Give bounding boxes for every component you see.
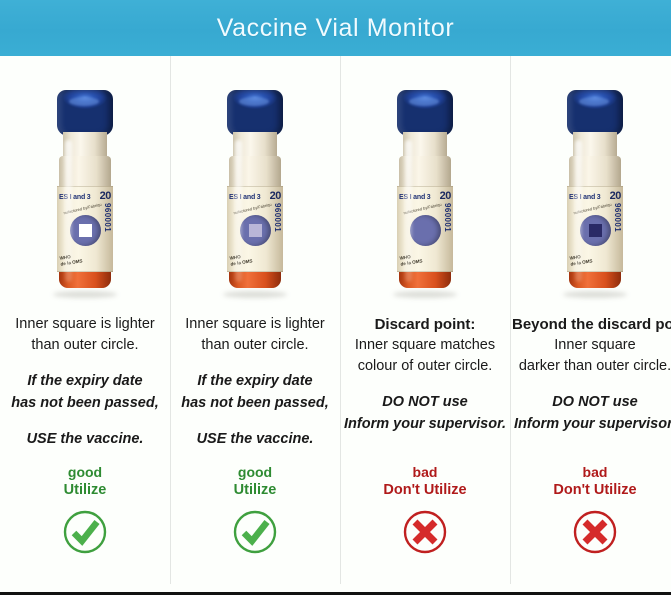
vial-who-text: WHO de la OMS xyxy=(399,252,423,267)
desc-line-4: Inform your supervisor. xyxy=(342,413,508,435)
stage-column-2: ES I and 3 20 nufactured by/Fabriqu 9600… xyxy=(170,60,340,592)
vial-serial-number: 960001 xyxy=(103,203,112,232)
desc-line-5: USE the vaccine. xyxy=(2,428,168,450)
stage-description-4: Beyond the discard point: Inner square d… xyxy=(510,300,671,435)
vial-shadow xyxy=(223,291,287,298)
verdict-word-4: bad xyxy=(583,463,608,481)
desc-line-1: Inner square is lighter xyxy=(172,314,338,335)
desc-line-5: USE the vaccine. xyxy=(172,428,338,450)
desc-line-4: has not been passed, xyxy=(172,392,338,414)
desc-line-2: than outer circle. xyxy=(172,335,338,356)
verdict-block-2: good Utilize xyxy=(231,463,279,592)
vial-manufacturer-text: nufactured by/Fabriqu xyxy=(63,202,102,216)
verdict-action-2: Utilize xyxy=(234,481,277,500)
vial-label-top-row: ES I and 3 20 xyxy=(569,190,621,202)
desc-heading-4: Beyond the discard point: xyxy=(512,314,671,335)
page-title: Vaccine Vial Monitor xyxy=(217,14,455,43)
check-circle-icon xyxy=(231,508,279,556)
vial-dose-count: 20 xyxy=(440,190,451,202)
vial-who-text: WHO de la OMS xyxy=(59,252,83,267)
vvm-indicator-4 xyxy=(580,215,611,246)
stage-description-1: Inner square is lighter than outer circl… xyxy=(0,300,170,450)
vaccine-vial-illustration-4: ES I and 3 20 nufactured by/Fabriqu 9600… xyxy=(542,90,648,300)
desc-line-4: has not been passed, xyxy=(2,392,168,414)
check-circle-icon xyxy=(61,508,109,556)
desc-line-1: Inner square is lighter xyxy=(2,314,168,335)
header-bar: Vaccine Vial Monitor xyxy=(0,0,671,56)
verdict-action-1: Utilize xyxy=(64,481,107,500)
vvm-inner-square-4 xyxy=(589,224,602,237)
verdict-block-4: bad Don't Utilize xyxy=(553,463,636,592)
vial-label-top-row: ES I and 3 20 xyxy=(229,190,281,202)
vial-label-4: ES I and 3 20 nufactured by/Fabriqu 9600… xyxy=(567,186,623,272)
vial-serial-number: 960001 xyxy=(273,203,282,232)
desc-line-2: darker than outer circle. xyxy=(512,356,671,377)
vaccine-vial-illustration-3: ES I and 3 20 nufactured by/Fabriqu 9600… xyxy=(372,90,478,300)
vial-label-top-row: ES I and 3 20 xyxy=(399,190,451,202)
vial-shadow xyxy=(563,291,627,298)
vvm-indicator-3 xyxy=(410,215,441,246)
desc-line-2: than outer circle. xyxy=(2,335,168,356)
stage-columns: ES I and 3 20 nufactured by/Fabriqu 9600… xyxy=(0,56,671,592)
stage-column-3: ES I and 3 20 nufactured by/Fabriqu 9600… xyxy=(340,60,510,592)
vial-product-code: ES I and 3 xyxy=(229,194,260,201)
vial-who-text: WHO de la OMS xyxy=(569,252,593,267)
stage-column-4: ES I and 3 20 nufactured by/Fabriqu 9600… xyxy=(510,60,671,592)
stage-column-1: ES I and 3 20 nufactured by/Fabriqu 9600… xyxy=(0,60,170,592)
vial-manufacturer-text: nufactured by/Fabriqu xyxy=(233,202,272,216)
desc-line-4: Inform your supervisor. xyxy=(512,413,671,435)
cross-circle-icon xyxy=(571,508,619,556)
desc-line-3: DO NOT use xyxy=(512,391,671,413)
verdict-block-3: bad Don't Utilize xyxy=(383,463,466,592)
vvm-inner-square-3 xyxy=(419,224,432,237)
vial-shadow xyxy=(393,291,457,298)
vial-serial-number: 960001 xyxy=(613,203,622,232)
stage-description-2: Inner square is lighter than outer circl… xyxy=(170,300,340,450)
vial-cap-icon xyxy=(397,90,453,136)
verdict-word-2: good xyxy=(238,463,272,481)
stage-description-3: Discard point: Inner square matches colo… xyxy=(340,300,510,435)
vial-shadow xyxy=(53,291,117,298)
vial-label-1: ES I and 3 20 nufactured by/Fabriqu 9600… xyxy=(57,186,113,272)
vial-serial-number: 960001 xyxy=(443,203,452,232)
verdict-word-1: good xyxy=(68,463,102,481)
desc-heading-3: Discard point: xyxy=(342,314,508,335)
desc-line-1: Inner square matches xyxy=(342,335,508,356)
vial-label-2: ES I and 3 20 nufactured by/Fabriqu 9600… xyxy=(227,186,283,272)
cross-circle-icon xyxy=(401,508,449,556)
vial-label-top-row: ES I and 3 20 xyxy=(59,190,111,202)
verdict-action-4: Don't Utilize xyxy=(553,481,636,500)
vvm-indicator-1 xyxy=(70,215,101,246)
vaccine-vial-monitor-poster: Vaccine Vial Monitor ES I and 3 20 xyxy=(0,0,671,595)
verdict-action-3: Don't Utilize xyxy=(383,481,466,500)
vial-product-code: ES I and 3 xyxy=(399,194,430,201)
verdict-word-3: bad xyxy=(413,463,438,481)
vial-dose-count: 20 xyxy=(270,190,281,202)
vial-product-code: ES I and 3 xyxy=(59,194,90,201)
vial-dose-count: 20 xyxy=(610,190,621,202)
vvm-inner-square-2 xyxy=(249,224,262,237)
vial-manufacturer-text: nufactured by/Fabriqu xyxy=(573,202,612,216)
desc-line-3: If the expiry date xyxy=(2,370,168,392)
desc-line-1: Inner square xyxy=(512,335,671,356)
desc-line-3: DO NOT use xyxy=(342,391,508,413)
vial-cap-icon xyxy=(227,90,283,136)
vial-product-code: ES I and 3 xyxy=(569,194,600,201)
vial-manufacturer-text: nufactured by/Fabriqu xyxy=(403,202,442,216)
desc-line-2: colour of outer circle. xyxy=(342,356,508,377)
desc-line-3: If the expiry date xyxy=(172,370,338,392)
vial-dose-count: 20 xyxy=(100,190,111,202)
vial-cap-icon xyxy=(567,90,623,136)
vial-who-text: WHO de la OMS xyxy=(229,252,253,267)
vvm-inner-square-1 xyxy=(79,224,92,237)
vvm-indicator-2 xyxy=(240,215,271,246)
vial-label-3: ES I and 3 20 nufactured by/Fabriqu 9600… xyxy=(397,186,453,272)
vaccine-vial-illustration-2: ES I and 3 20 nufactured by/Fabriqu 9600… xyxy=(202,90,308,300)
vaccine-vial-illustration-1: ES I and 3 20 nufactured by/Fabriqu 9600… xyxy=(32,90,138,300)
verdict-block-1: good Utilize xyxy=(61,463,109,592)
vial-cap-icon xyxy=(57,90,113,136)
